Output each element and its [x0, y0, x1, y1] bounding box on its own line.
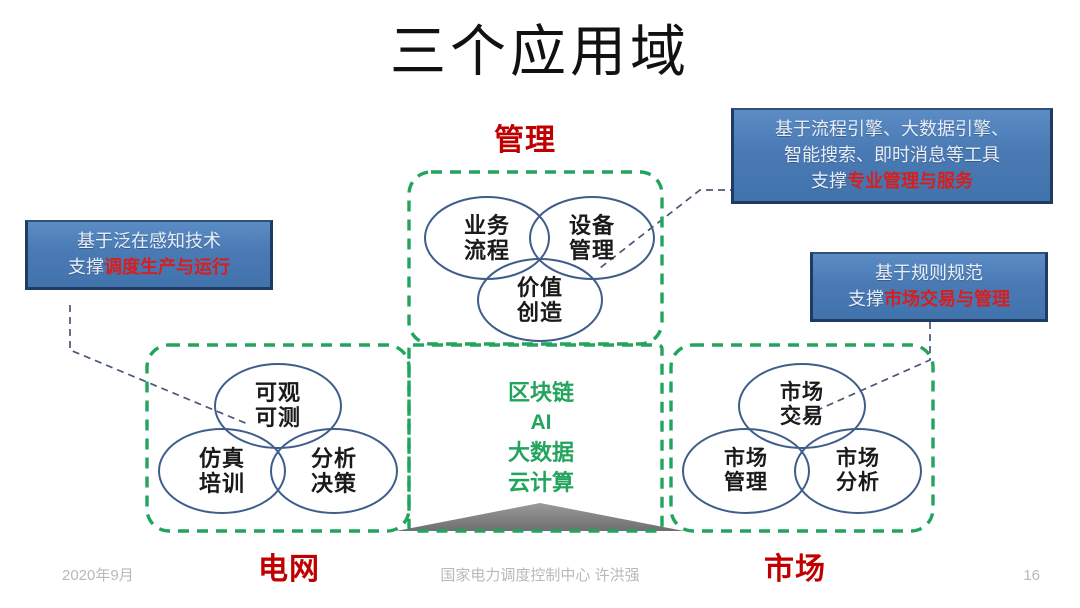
caption-value-creation: 价值 创造	[490, 275, 590, 325]
callout-manage-highlight: 专业管理与服务	[847, 171, 973, 191]
connector-grid	[70, 305, 250, 425]
caption-market-trading: 市场 交易	[752, 381, 852, 429]
domain-label-manage: 管理	[445, 124, 605, 158]
tech-stack: 区块链 AI 大数据 云计算	[462, 378, 620, 498]
caption-business-process: 业务 流程	[437, 213, 537, 263]
callout-market-line2: 支撑市场交易与管理	[821, 286, 1037, 312]
callout-market-line1: 基于规则规范	[821, 260, 1037, 286]
tech-item-ai: AI	[462, 408, 620, 438]
callout-market-highlight: 市场交易与管理	[884, 289, 1010, 309]
callout-market[interactable]: 基于规则规范 支撑市场交易与管理	[810, 252, 1048, 322]
callout-manage[interactable]: 基于流程引擎、大数据引擎、 智能搜索、即时消息等工具 支撑专业管理与服务	[731, 108, 1053, 204]
tech-item-cloud: 云计算	[462, 468, 620, 498]
tech-item-bigdata: 大数据	[462, 438, 620, 468]
callout-grid-line1: 基于泛在感知技术	[36, 228, 262, 254]
domain-box-market	[671, 345, 933, 531]
tech-item-blockchain: 区块链	[462, 378, 620, 408]
callout-market-prefix: 支撑	[848, 289, 884, 309]
callout-grid[interactable]: 基于泛在感知技术 支撑调度生产与运行	[25, 220, 273, 290]
footer-page-number: 16	[0, 566, 1040, 586]
caption-market-analysis: 市场 分析	[808, 447, 908, 495]
callout-grid-highlight: 调度生产与运行	[104, 257, 230, 277]
callout-manage-line3: 支撑专业管理与服务	[742, 168, 1042, 194]
caption-analysis-decision: 分析 决策	[284, 446, 384, 496]
callout-grid-prefix: 支撑	[68, 257, 104, 277]
caption-equipment-management: 设备 管理	[542, 213, 642, 263]
caption-market-management: 市场 管理	[696, 447, 796, 495]
mountain-shape	[396, 503, 684, 531]
caption-simulation-training: 仿真 培训	[172, 446, 272, 496]
caption-observable-measurable: 可观 可测	[228, 380, 328, 430]
callout-manage-prefix: 支撑	[811, 171, 847, 191]
domain-box-grid	[147, 345, 409, 531]
callout-grid-line2: 支撑调度生产与运行	[36, 254, 262, 280]
callout-manage-line1: 基于流程引擎、大数据引擎、	[742, 116, 1042, 142]
callout-manage-line2: 智能搜索、即时消息等工具	[742, 142, 1042, 168]
slide-canvas: 三个应用域	[0, 0, 1080, 608]
